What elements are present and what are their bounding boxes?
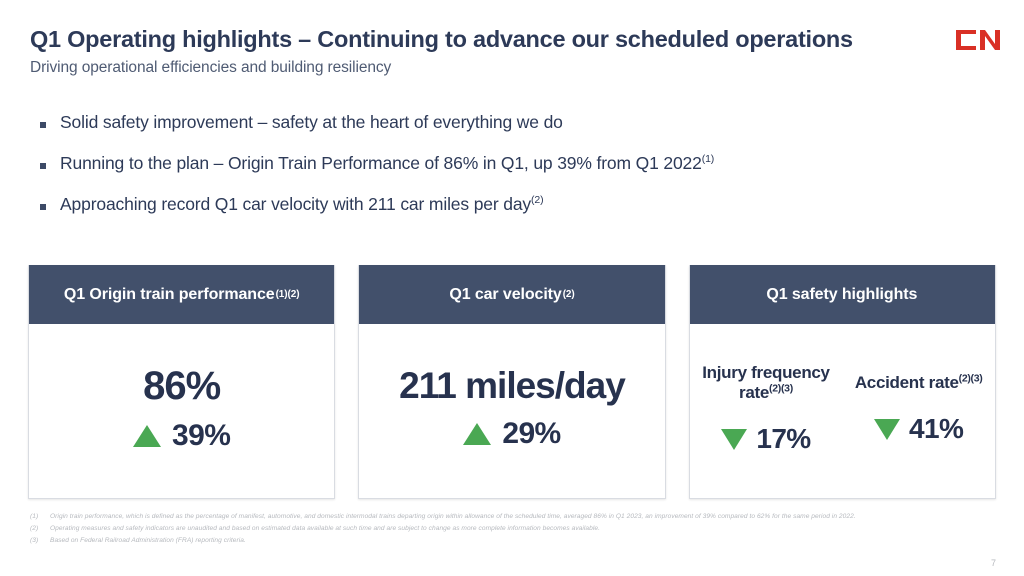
bullet-text: Solid safety improvement – safety at the…: [60, 112, 563, 134]
card-body: Injury frequency rate(2)(3) 17% Accident…: [690, 324, 995, 498]
footnote-text: Origin train performance, which is defin…: [50, 512, 984, 522]
bullet-text: Running to the plan – Origin Train Perfo…: [60, 153, 714, 175]
card-header: Q1 Origin train performance(1)(2): [29, 265, 334, 324]
bullet-square-icon: [40, 122, 46, 128]
footnote-item: (2) Operating measures and safety indica…: [30, 524, 984, 534]
list-item: Solid safety improvement – safety at the…: [40, 112, 984, 134]
safety-metric-label-text: Injury frequency rate: [702, 363, 829, 402]
bullet-text: Approaching record Q1 car velocity with …: [60, 194, 543, 216]
bullet-square-icon: [40, 204, 46, 210]
metric-delta-value: 29%: [502, 419, 560, 449]
card-body: 211 miles/day 29%: [359, 324, 664, 498]
list-item: Approaching record Q1 car velocity with …: [40, 194, 984, 216]
metric-primary-value: 211 miles/day: [399, 367, 625, 406]
bullet-list: Solid safety improvement – safety at the…: [40, 112, 984, 235]
footnote-number: (2): [30, 524, 50, 534]
safety-metric-delta-value: 17%: [756, 425, 810, 453]
bullet-square-icon: [40, 163, 46, 169]
footnotes: (1) Origin train performance, which is d…: [30, 512, 984, 549]
arrow-down-icon: [721, 429, 747, 450]
footnote-number: (1): [30, 512, 50, 522]
bullet-footnote-ref: (1): [702, 153, 714, 165]
card-origin-train-performance: Q1 Origin train performance(1)(2) 86% 39…: [28, 265, 335, 499]
safety-metric-label: Injury frequency rate(2)(3): [694, 363, 839, 404]
card-title: Q1 car velocity: [449, 286, 561, 304]
card-title: Q1 safety highlights: [766, 286, 917, 304]
safety-metric-delta: 41%: [874, 415, 963, 443]
footnote-item: (3) Based on Federal Railroad Administra…: [30, 536, 984, 546]
footnote-item: (1) Origin train performance, which is d…: [30, 512, 984, 522]
metric-delta-value: 39%: [172, 421, 230, 451]
safety-metric-label-text: Accident rate: [855, 373, 959, 392]
card-car-velocity: Q1 car velocity(2) 211 miles/day 29%: [358, 265, 665, 499]
arrow-up-icon: [463, 423, 491, 445]
list-item: Running to the plan – Origin Train Perfo…: [40, 153, 984, 175]
metric-delta: 39%: [133, 421, 230, 451]
arrow-up-icon: [133, 425, 161, 447]
safety-metric-grid: Injury frequency rate(2)(3) 17% Accident…: [690, 324, 995, 492]
metric-card-row: Q1 Origin train performance(1)(2) 86% 39…: [28, 265, 996, 499]
metric-primary-value: 86%: [143, 365, 220, 407]
card-safety-highlights: Q1 safety highlights Injury frequency ra…: [689, 265, 996, 499]
footnote-number: (3): [30, 536, 50, 546]
safety-metric-label: Accident rate(2)(3): [855, 373, 983, 393]
card-header: Q1 car velocity(2): [359, 265, 664, 324]
arrow-down-icon: [874, 419, 900, 440]
card-body: 86% 39%: [29, 324, 334, 498]
safety-metric-accident-rate: Accident rate(2)(3) 41%: [842, 373, 995, 443]
footnote-text: Based on Federal Railroad Administration…: [50, 536, 984, 546]
cn-logo: [954, 27, 1002, 53]
slide-header: Q1 Operating highlights – Continuing to …: [30, 26, 994, 77]
bullet-label: Solid safety improvement – safety at the…: [60, 112, 563, 132]
metric-delta: 29%: [463, 419, 560, 449]
bullet-label: Running to the plan – Origin Train Perfo…: [60, 153, 702, 173]
safety-metric-delta: 17%: [721, 425, 810, 453]
safety-metric-injury-frequency-rate: Injury frequency rate(2)(3) 17%: [690, 363, 843, 454]
safety-metric-delta-value: 41%: [909, 415, 963, 443]
card-header: Q1 safety highlights: [690, 265, 995, 324]
footnote-text: Operating measures and safety indicators…: [50, 524, 984, 534]
safety-metric-footnote-ref: (2)(3): [959, 372, 983, 384]
page-subtitle: Driving operational efficiencies and bui…: [30, 59, 994, 77]
bullet-footnote-ref: (2): [531, 194, 543, 206]
card-title: Q1 Origin train performance: [64, 286, 275, 304]
bullet-label: Approaching record Q1 car velocity with …: [60, 194, 531, 214]
page-number: 7: [991, 558, 996, 568]
page-title: Q1 Operating highlights – Continuing to …: [30, 26, 994, 53]
safety-metric-footnote-ref: (2)(3): [769, 382, 793, 394]
